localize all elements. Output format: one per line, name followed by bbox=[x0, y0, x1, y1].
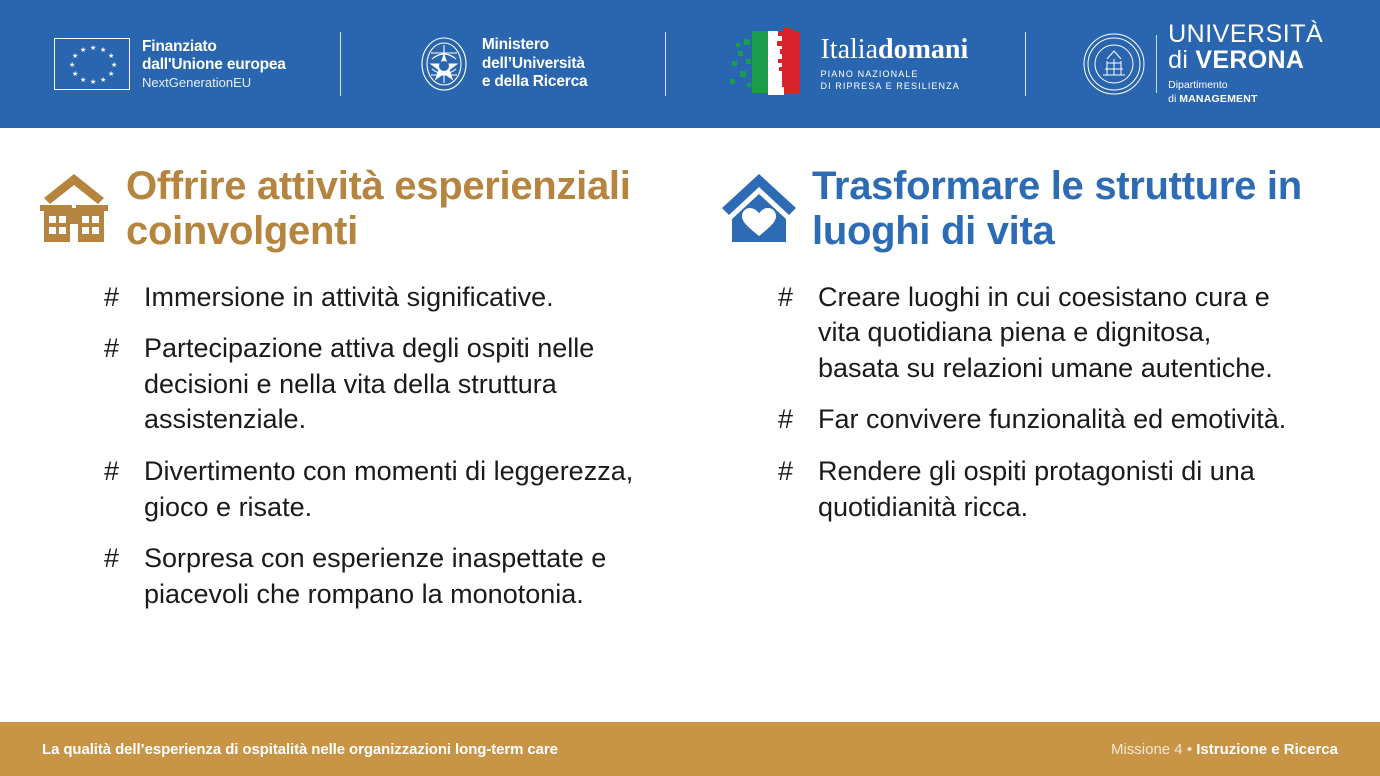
bullet-marker-icon: # bbox=[104, 331, 144, 367]
bullet-item: # Immersione in attività significative. bbox=[104, 280, 702, 316]
bullet-marker-icon: # bbox=[778, 280, 818, 316]
slide-body: Offrire attività esperienziali coinvolge… bbox=[0, 128, 1380, 722]
footer-left-text: La qualità dell’esperienza di ospitalità… bbox=[42, 741, 558, 758]
footer-separator-icon: • bbox=[1187, 741, 1192, 758]
bullet-text: Partecipazione attiva degli ospiti nelle… bbox=[144, 331, 702, 438]
slide: ★ ★ ★ ★ ★ ★ ★ ★ ★ ★ ★ ★ Finanziato dall'… bbox=[0, 0, 1380, 776]
bullet-item: # Partecipazione attiva degli ospiti nel… bbox=[104, 331, 702, 438]
bullet-marker-icon: # bbox=[104, 280, 144, 316]
verona-dept-line2-prefix: di bbox=[1168, 93, 1179, 105]
column-right-bullets: # Creare luoghi in cui coesistano cura e… bbox=[778, 280, 1350, 526]
bullet-text: Far convivere funzionalità ed emotività. bbox=[818, 402, 1286, 438]
ministero-line3: e della Ricerca bbox=[482, 73, 588, 92]
bullet-item: # Divertimento con momenti di leggerezza… bbox=[104, 454, 702, 525]
verona-line1: UNIVERSITÀ bbox=[1168, 22, 1323, 47]
verona-line2-prefix: di bbox=[1168, 46, 1195, 74]
bullet-text: Sorpresa con esperienze inaspettate e pi… bbox=[144, 541, 702, 612]
verona-line2-strong: VERONA bbox=[1195, 46, 1304, 74]
bullet-text: Immersione in attività significative. bbox=[144, 280, 554, 316]
column-left: Offrire attività esperienziali coinvolge… bbox=[0, 128, 720, 722]
logo-italia-domani: Italiadomani PIANO NAZIONALE DI RIPRESA … bbox=[666, 0, 1026, 128]
footer-mission-label: Missione 4 bbox=[1111, 741, 1183, 758]
ministero-line2: dell’Università bbox=[482, 55, 588, 74]
logo-ministero: Ministero dell’Università e della Ricerc… bbox=[341, 0, 665, 128]
column-right-title: Trasformare le strutture in luoghi di vi… bbox=[812, 164, 1350, 254]
house-heart-icon bbox=[720, 172, 798, 244]
ministero-line1: Ministero bbox=[482, 36, 588, 55]
italia-domani-brand-part2: domani bbox=[878, 34, 968, 65]
italian-republic-emblem-icon bbox=[418, 35, 470, 93]
bullet-marker-icon: # bbox=[104, 454, 144, 490]
footer-right-text: Missione 4 • Istruzione e Ricerca bbox=[1111, 741, 1338, 758]
eu-logo-line1: Finanziato bbox=[142, 38, 286, 56]
verona-dept-line2-strong: MANAGEMENT bbox=[1179, 93, 1257, 105]
logo-eu-funding: ★ ★ ★ ★ ★ ★ ★ ★ ★ ★ ★ ★ Finanziato dall'… bbox=[0, 0, 340, 128]
verona-dept-line1: Dipartimento bbox=[1168, 79, 1323, 92]
bullet-text: Creare luoghi in cui coesistano cura e v… bbox=[818, 280, 1288, 387]
eu-flag-icon: ★ ★ ★ ★ ★ ★ ★ ★ ★ ★ ★ ★ bbox=[54, 38, 130, 90]
bullet-marker-icon: # bbox=[778, 454, 818, 490]
column-left-title: Offrire attività esperienziali coinvolge… bbox=[126, 164, 702, 254]
bullet-marker-icon: # bbox=[778, 402, 818, 438]
bullet-item: # Creare luoghi in cui coesistano cura e… bbox=[778, 280, 1350, 387]
footer-bar: La qualità dell’esperienza di ospitalità… bbox=[0, 722, 1380, 776]
bullet-item: # Rendere gli ospiti protagonisti di una… bbox=[778, 454, 1350, 525]
italia-domani-sub1: PIANO NAZIONALE bbox=[820, 69, 968, 80]
bullet-text: Divertimento con momenti di leggerezza, … bbox=[144, 454, 702, 525]
bullet-item: # Far convivere funzionalità ed emotivit… bbox=[778, 402, 1350, 438]
bullet-marker-icon: # bbox=[104, 541, 144, 577]
column-left-bullets: # Immersione in attività significative. … bbox=[104, 280, 702, 613]
italia-domani-brand-part1: Italia bbox=[820, 34, 878, 65]
header-banner: ★ ★ ★ ★ ★ ★ ★ ★ ★ ★ ★ ★ Finanziato dall'… bbox=[0, 0, 1380, 128]
university-seal-icon bbox=[1083, 33, 1145, 95]
school-building-icon bbox=[36, 172, 112, 244]
bullet-text: Rendere gli ospiti protagonisti di una q… bbox=[818, 454, 1288, 525]
italia-domani-sub2: DI RIPRESA E RESILIENZA bbox=[820, 81, 968, 92]
eu-logo-line3: NextGenerationEU bbox=[142, 75, 286, 90]
verona-logo-rule bbox=[1156, 35, 1157, 93]
italia-domani-flag-icon bbox=[722, 27, 810, 101]
logo-universita-verona: UNIVERSITÀ di VERONA Dipartimento di MAN… bbox=[1026, 0, 1380, 128]
column-right: Trasformare le strutture in luoghi di vi… bbox=[720, 128, 1380, 722]
eu-logo-line2: dall'Unione europea bbox=[142, 56, 286, 74]
bullet-item: # Sorpresa con esperienze inaspettate e … bbox=[104, 541, 702, 612]
footer-mission-name: Istruzione e Ricerca bbox=[1196, 741, 1338, 758]
